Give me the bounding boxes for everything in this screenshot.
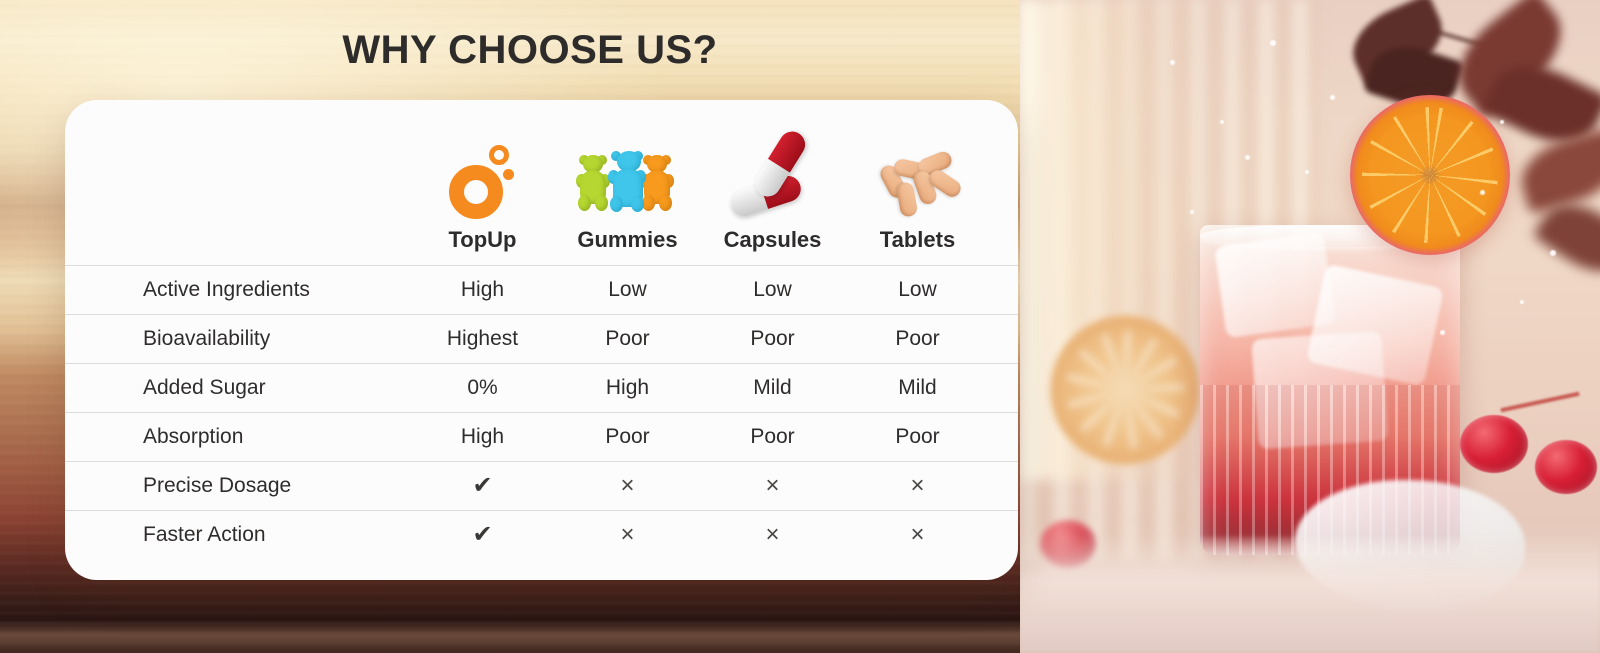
feature-text: Precise Dosage	[143, 474, 291, 497]
cell-topup: ✔	[410, 474, 555, 498]
cell-value: Low	[753, 278, 792, 301]
table-header-row: TopUp Gummies	[65, 100, 1018, 265]
column-label-topup: TopUp	[448, 227, 516, 253]
cell-topup: High	[410, 278, 555, 302]
feature-text: Active Ingredients	[143, 278, 310, 301]
cell-topup: 0%	[410, 376, 555, 400]
cell-gummies: Poor	[555, 425, 700, 449]
comparison-table: TopUp Gummies	[65, 100, 1018, 559]
column-header-topup: TopUp	[410, 100, 555, 265]
cell-tablets: Poor	[845, 327, 990, 351]
cell-topup: Highest	[410, 327, 555, 351]
cell-value: Mild	[898, 376, 937, 399]
column-header-capsules: Capsules	[700, 100, 845, 265]
feature-text: Added Sugar	[143, 376, 266, 399]
cell-value: Low	[608, 278, 647, 301]
cell-capsules: Poor	[700, 425, 845, 449]
cell-value: Highest	[447, 327, 518, 350]
cell-value: High	[606, 376, 649, 399]
cross-icon: ×	[910, 521, 924, 548]
cell-capsules: Mild	[700, 376, 845, 400]
cell-tablets: ×	[845, 474, 990, 498]
cell-value: Poor	[605, 327, 649, 350]
feature-text: Faster Action	[143, 523, 266, 546]
table-row: Precise Dosage ✔ × × ×	[65, 461, 1018, 510]
cell-value: Low	[898, 278, 937, 301]
water-droplets	[1020, 0, 1600, 653]
feature-text: Bioavailability	[143, 327, 270, 350]
cell-tablets: Mild	[845, 376, 990, 400]
gummy-bears-icon	[576, 145, 680, 217]
row-feature-label: Absorption	[65, 425, 410, 449]
cell-value: Poor	[605, 425, 649, 448]
cell-value: Mild	[753, 376, 792, 399]
cell-value: Poor	[895, 425, 939, 448]
comparison-card: TopUp Gummies	[65, 100, 1018, 580]
row-feature-label: Active Ingredients	[65, 278, 410, 302]
tablets-icon	[872, 145, 964, 217]
row-feature-label: Added Sugar	[65, 376, 410, 400]
row-feature-label: Faster Action	[65, 523, 410, 547]
check-icon: ✔	[472, 521, 492, 548]
cell-capsules: Poor	[700, 327, 845, 351]
cell-value: Poor	[750, 425, 794, 448]
page-title: WHY CHOOSE US?	[0, 28, 1060, 73]
table-row: Added Sugar 0% High Mild Mild	[65, 363, 1018, 412]
cross-icon: ×	[765, 521, 779, 548]
cell-value: Poor	[895, 327, 939, 350]
column-header-tablets: Tablets	[845, 100, 990, 265]
cell-tablets: Low	[845, 278, 990, 302]
topup-logo-icon	[445, 145, 521, 217]
row-feature-label: Bioavailability	[65, 327, 410, 351]
column-label-tablets: Tablets	[880, 227, 955, 253]
cell-gummies: Poor	[555, 327, 700, 351]
cell-value: High	[461, 425, 504, 448]
table-row: Faster Action ✔ × × ×	[65, 510, 1018, 559]
cross-icon: ×	[910, 472, 924, 499]
column-label-gummies: Gummies	[577, 227, 677, 253]
cell-tablets: Poor	[845, 425, 990, 449]
cell-gummies: ×	[555, 474, 700, 498]
table-row: Active Ingredients High Low Low Low	[65, 265, 1018, 314]
screenshot-stage: WHY CHOOSE US? TopUp	[0, 0, 1600, 653]
column-header-gummies: Gummies	[555, 100, 700, 265]
column-label-capsules: Capsules	[724, 227, 822, 253]
table-row: Absorption High Poor Poor Poor	[65, 412, 1018, 461]
cross-icon: ×	[620, 521, 634, 548]
cell-gummies: Low	[555, 278, 700, 302]
capsules-icon	[728, 145, 818, 217]
cell-gummies: High	[555, 376, 700, 400]
cell-value: High	[461, 278, 504, 301]
cross-icon: ×	[765, 472, 779, 499]
cocktail-photo-scene	[1020, 0, 1600, 653]
cross-icon: ×	[620, 472, 634, 499]
cell-value: Poor	[750, 327, 794, 350]
cell-value: 0%	[467, 376, 497, 399]
table-row: Bioavailability Highest Poor Poor Poor	[65, 314, 1018, 363]
cell-gummies: ×	[555, 523, 700, 547]
cell-capsules: ×	[700, 474, 845, 498]
cell-capsules: Low	[700, 278, 845, 302]
cell-topup: ✔	[410, 523, 555, 547]
cell-tablets: ×	[845, 523, 990, 547]
row-feature-label: Precise Dosage	[65, 474, 410, 498]
feature-text: Absorption	[143, 425, 243, 448]
cell-capsules: ×	[700, 523, 845, 547]
cell-topup: High	[410, 425, 555, 449]
check-icon: ✔	[472, 472, 492, 499]
